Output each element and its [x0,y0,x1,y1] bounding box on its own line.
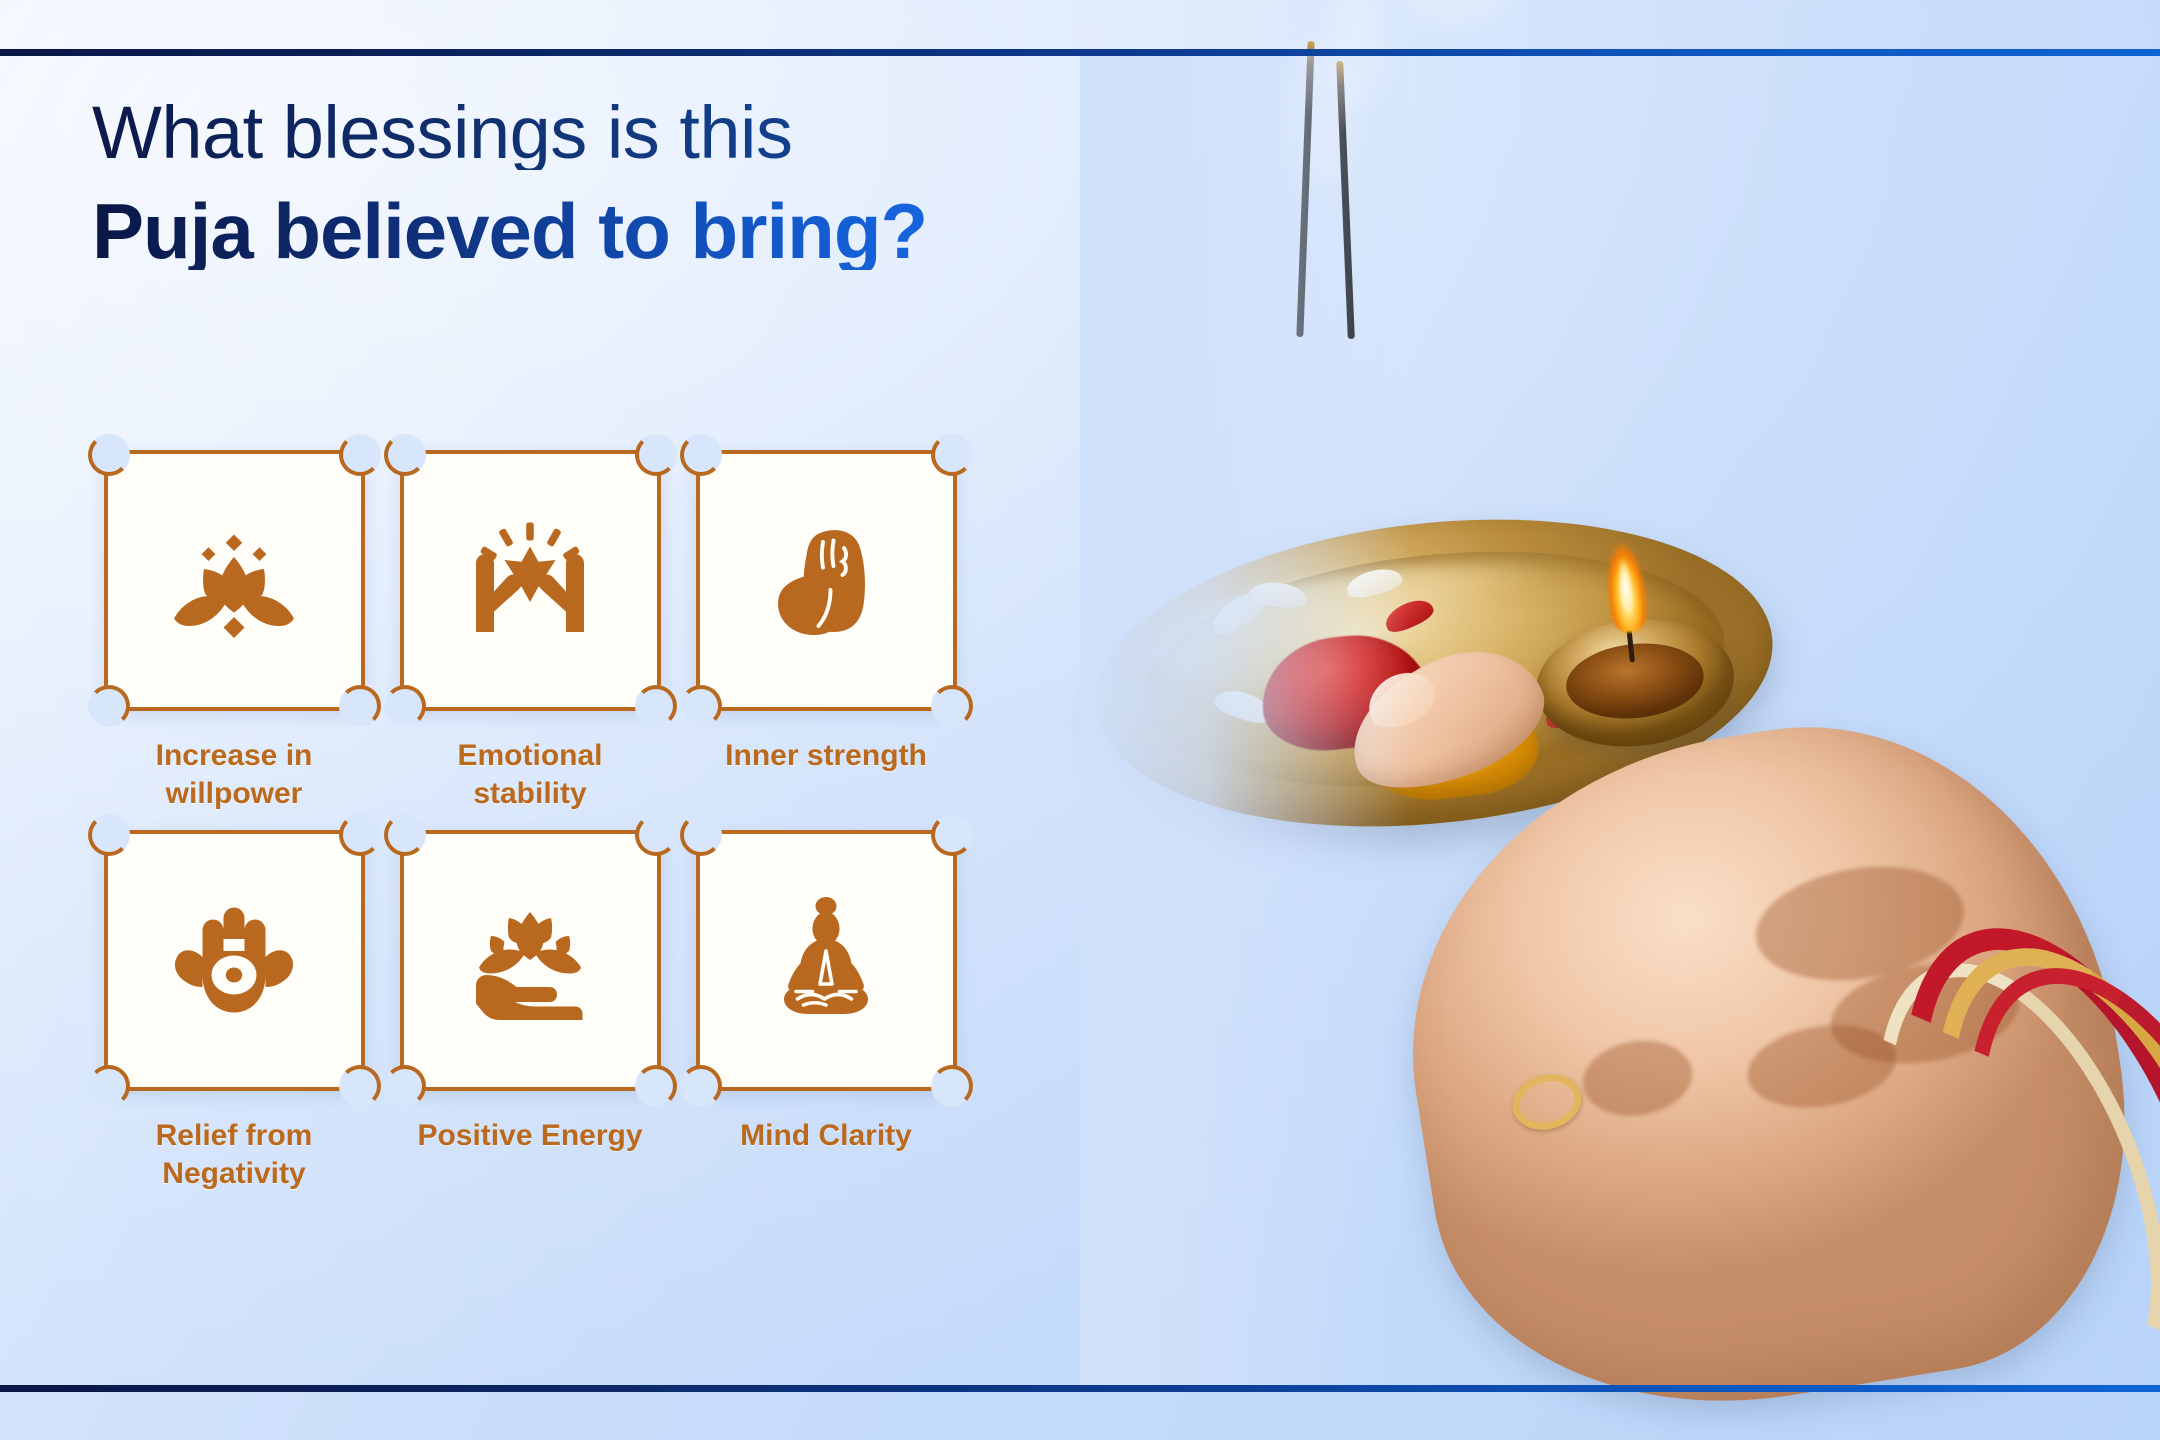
benefit-item-relief-from-negativity[interactable]: Relief from Negativity [92,830,376,1194]
benefit-item-mind-clarity[interactable]: Mind Clarity [684,830,968,1194]
page-title: What blessings is this Puja believed to … [92,96,927,270]
benefit-label: Increase in willpower [109,737,359,814]
benefit-label: Relief from Negativity [109,1117,359,1194]
benefit-label: Mind Clarity [740,1117,912,1155]
flexed-bicep-icon [751,506,901,656]
benefit-icon-tile[interactable] [400,830,661,1091]
benefit-icon-tile[interactable] [696,450,957,711]
photo-edge-fade [1080,55,1410,1385]
bangle [1875,904,2160,1440]
white-petal [1344,564,1404,601]
haldi-heap [1365,685,1543,806]
poster-canvas: What blessings is this Puja believed to … [0,0,2160,1440]
diya-oil [1562,637,1707,725]
incense-smoke [1286,45,1356,185]
henna-pattern [1577,1033,1697,1123]
benefit-icon-tile[interactable] [104,830,365,1091]
incense-smoke [1398,0,1518,25]
thumb [1331,628,1561,812]
lotus-icon [159,506,309,656]
henna-pattern [1742,1015,1903,1117]
top-divider-rule [0,49,2160,56]
bangle [1908,924,2160,1440]
bottom-divider-rule [0,1385,2160,1392]
benefit-label: Inner strength [725,737,927,775]
white-petal [1212,685,1275,728]
red-petal [1381,594,1436,636]
benefit-item-inner-strength[interactable]: Inner strength [684,450,968,814]
white-petal [1442,732,1497,764]
white-petal [1248,580,1308,610]
hamsa-hand-icon [159,885,309,1035]
thumbnail [1359,662,1444,738]
incense-stick [1296,41,1314,337]
headline-line-1: What blessings is this [92,96,927,170]
meditating-person-icon [751,885,901,1035]
white-petal [1605,674,1663,710]
headline-line-2: Puja believed to bring? [92,192,927,270]
bangle [1842,882,2160,1440]
lotus-in-palm-icon [455,885,605,1035]
white-petal [1207,584,1273,640]
bangle [1821,923,2160,1440]
finger-ring [1506,1066,1588,1137]
diya-flame [1597,519,1652,635]
red-petal [1354,734,1411,767]
thali-composition [1080,55,2160,1385]
thali-inner-basin [1131,525,1736,813]
kumkum-heap [1256,628,1435,757]
red-petal [1542,690,1609,732]
diya-flame-core [1614,550,1635,613]
thali-highlight [1148,545,1628,713]
benefit-icon-tile[interactable] [696,830,957,1091]
benefit-label: Positive Energy [417,1117,642,1155]
hand [1369,684,2160,1440]
incense-stick [1336,61,1355,339]
brass-thali [1080,488,1788,857]
benefit-item-emotional-stability[interactable]: Emotional stability [388,450,672,814]
puja-thali-photo [1080,55,2160,1385]
diya-lamp [1530,610,1740,756]
benefit-item-positive-energy[interactable]: Positive Energy [388,830,672,1194]
henna-pattern [1824,951,2027,1076]
hands-holding-star-icon [455,506,605,656]
benefit-icon-tile[interactable] [400,450,661,711]
benefit-label: Emotional stability [405,737,655,814]
benefits-grid: Increase in willpower [92,450,968,1194]
benefit-item-increase-in-willpower[interactable]: Increase in willpower [92,450,376,814]
benefit-icon-tile[interactable] [104,450,365,711]
henna-pattern [1748,853,1973,994]
diya-wick [1624,608,1635,662]
